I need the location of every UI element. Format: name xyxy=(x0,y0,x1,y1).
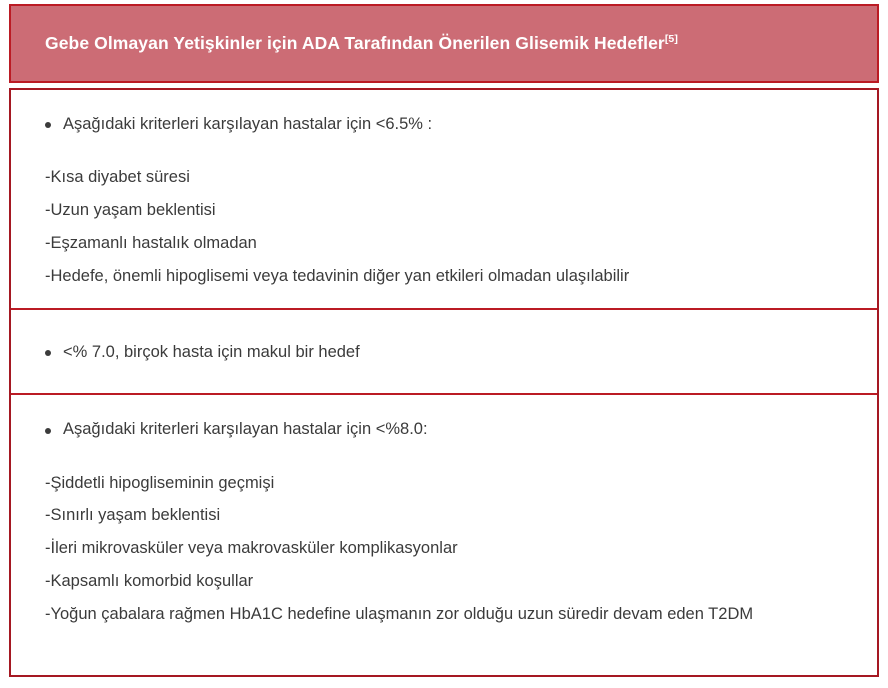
reference-marker: [5] xyxy=(665,33,678,45)
section-bullet-label: Aşağıdaki kriterleri karşılayan hastalar… xyxy=(63,420,428,438)
list-item: -Yoğun çabalara rağmen HbA1C hedefine ul… xyxy=(45,604,851,626)
list-item: -İleri mikrovasküler veya makrovasküler … xyxy=(45,538,851,560)
table-header-title-text: Gebe Olmayan Yetişkinler için ADA Tarafı… xyxy=(45,33,665,53)
list-item-label: -Yoğun çabalara rağmen HbA1C hedefine ul… xyxy=(45,605,753,623)
list-item-label: -Hedefe, önemli hipoglisemi veya tedavin… xyxy=(45,267,629,285)
list-item-label: -Kısa diyabet süresi xyxy=(45,168,190,186)
section-bullet-label: Aşağıdaki kriterleri karşılayan hastalar… xyxy=(63,115,432,133)
table-body: Aşağıdaki kriterleri karşılayan hastalar… xyxy=(9,88,879,677)
list-item: -Şiddetli hipogliseminin geçmişi xyxy=(45,473,851,495)
list-item-label: -Kapsamlı komorbid koşullar xyxy=(45,572,253,590)
page-title: Gebe Olmayan Yetişkinler için ADA Tarafı… xyxy=(45,33,678,54)
section-target-under-7-0: <% 7.0, birçok hasta için makul bir hede… xyxy=(11,308,877,393)
spacer xyxy=(45,149,851,167)
table-header: Gebe Olmayan Yetişkinler için ADA Tarafı… xyxy=(9,4,879,83)
section-bullet: Aşağıdaki kriterleri karşılayan hastalar… xyxy=(45,418,851,440)
list-item: -Sınırlı yaşam beklentisi xyxy=(45,505,851,527)
section-bullet-label: <% 7.0, birçok hasta için makul bir hede… xyxy=(63,343,360,361)
section-bullet: Aşağıdaki kriterleri karşılayan hastalar… xyxy=(45,113,851,135)
list-item-label: -Eşzamanlı hastalık olmadan xyxy=(45,234,257,252)
list-item-label: -Şiddetli hipogliseminin geçmişi xyxy=(45,474,274,492)
list-item: -Kısa diyabet süresi xyxy=(45,167,851,189)
list-item: -Eşzamanlı hastalık olmadan xyxy=(45,233,851,255)
list-item-label: -Sınırlı yaşam beklentisi xyxy=(45,506,220,524)
criteria-list: -Kısa diyabet süresi -Uzun yaşam beklent… xyxy=(45,167,851,288)
bullet-dot-icon xyxy=(45,122,51,128)
list-item: -Kapsamlı komorbid koşullar xyxy=(45,571,851,593)
bullet-dot-icon xyxy=(45,428,51,434)
glycemic-targets-table: Gebe Olmayan Yetişkinler için ADA Tarafı… xyxy=(0,0,888,688)
criteria-list: -Şiddetli hipogliseminin geçmişi -Sınırl… xyxy=(45,473,851,627)
section-target-under-6-5: Aşağıdaki kriterleri karşılayan hastalar… xyxy=(11,90,877,308)
list-item: -Uzun yaşam beklentisi xyxy=(45,200,851,222)
list-item-label: -İleri mikrovasküler veya makrovasküler … xyxy=(45,539,458,557)
spacer xyxy=(45,455,851,473)
section-bullet: <% 7.0, birçok hasta için makul bir hede… xyxy=(45,341,851,363)
bullet-dot-icon xyxy=(45,350,51,356)
section-target-under-8-0: Aşağıdaki kriterleri karşılayan hastalar… xyxy=(11,393,877,646)
list-item: -Hedefe, önemli hipoglisemi veya tedavin… xyxy=(45,266,851,288)
list-item-label: -Uzun yaşam beklentisi xyxy=(45,201,216,219)
